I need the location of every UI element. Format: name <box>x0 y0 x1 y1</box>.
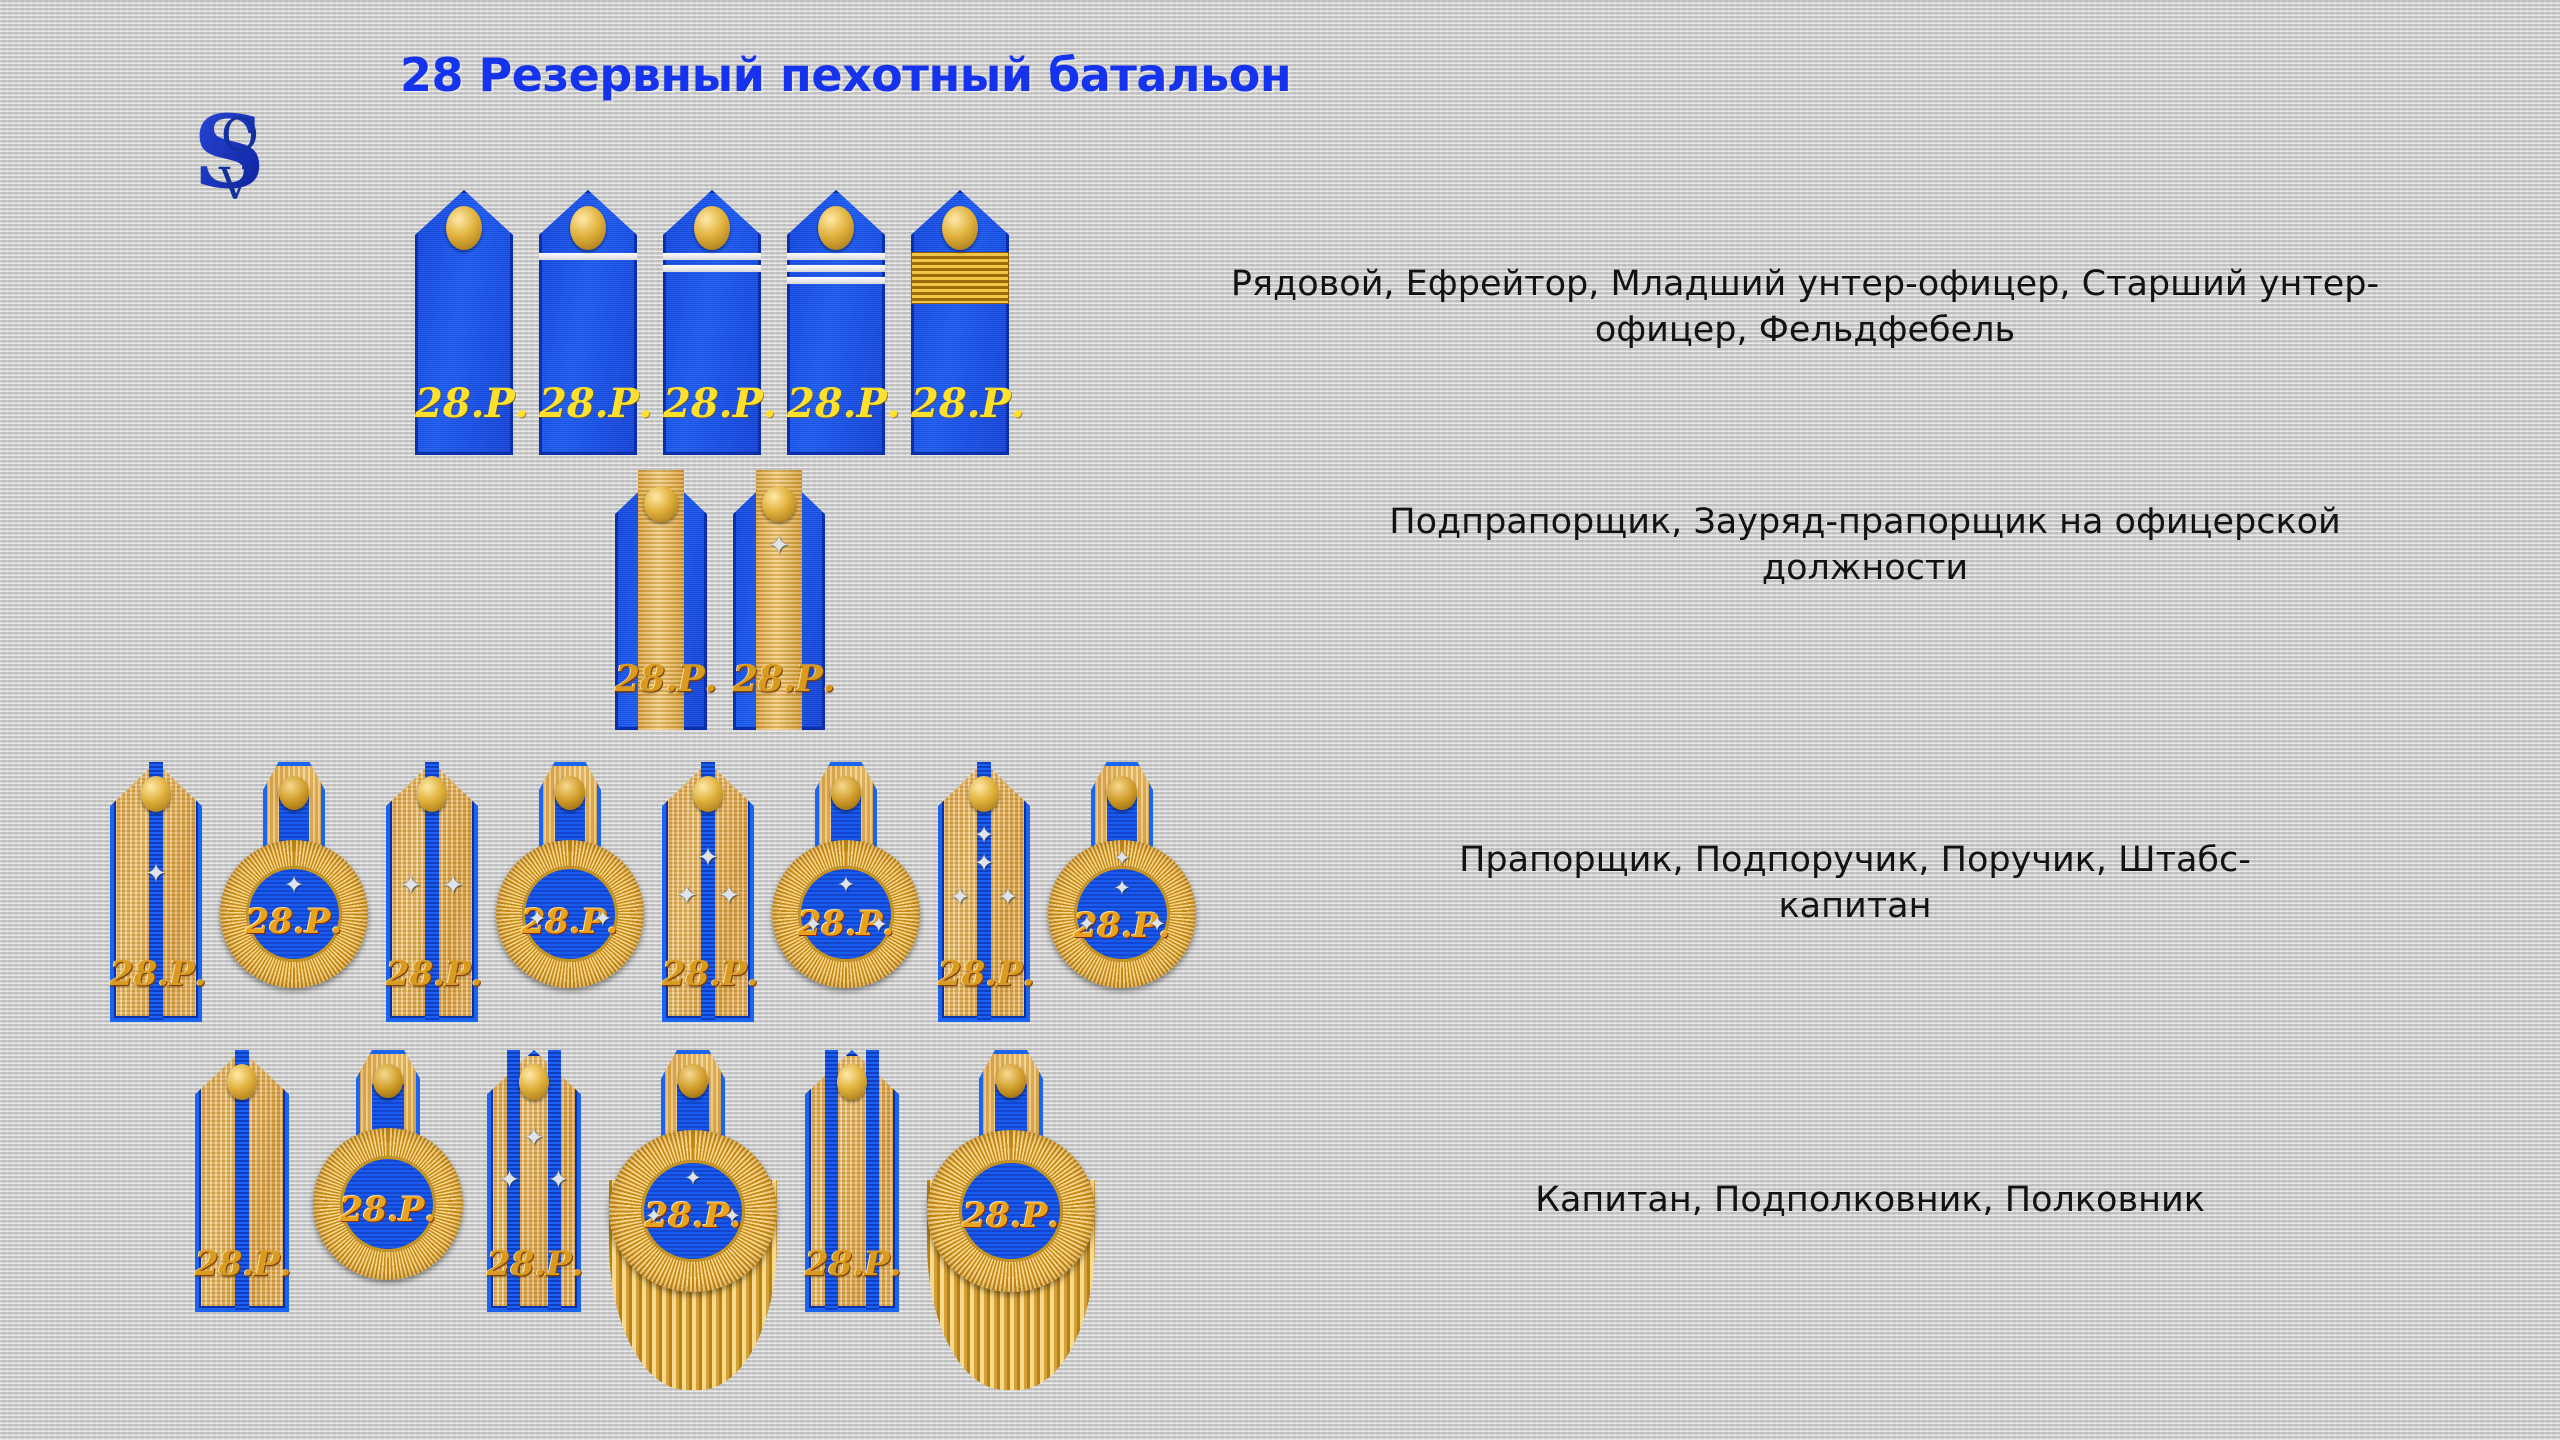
strap-button-icon <box>141 776 171 812</box>
strap-button-icon <box>519 1064 549 1100</box>
rank-star-icon: ✦ <box>837 874 855 896</box>
shoulder-strap-podpraporshchik[interactable]: 28.Р. <box>615 470 707 730</box>
strap-button-icon <box>762 486 796 522</box>
rank-star-icon: ✦ <box>768 532 790 558</box>
rank-star-icon: ✦ <box>284 874 304 898</box>
rank-star-icon: ✦ <box>974 824 994 848</box>
epaulette-polkovnik[interactable]: 28.Р. <box>923 1050 1099 1440</box>
feldfebel-gold-galloon <box>911 252 1009 304</box>
shoulder-strap-podpolkovnik[interactable]: ✦ ✦ ✦ 28.Р. <box>487 1050 581 1312</box>
caption-staff-officers: Капитан, Подполковник, Полковник <box>1470 1178 2270 1224</box>
rank-star-icon: ✦ <box>676 882 698 908</box>
shoulder-strap-poruchik[interactable]: ✦ ✦ ✦ 28.Р. <box>662 762 754 1022</box>
strap-button-icon <box>570 206 606 250</box>
epaulette-button-icon <box>678 1064 708 1098</box>
rank-star-icon: ✦ <box>684 1168 702 1189</box>
rank-star-icon: ✦ <box>145 860 167 886</box>
rank-star-icon: ✦ <box>528 908 546 930</box>
rank-star-icon: ✦ <box>998 886 1018 910</box>
epaulette-button-icon <box>279 776 309 810</box>
rank-star-icon: ✦ <box>400 872 422 898</box>
rank-star-icon: ✦ <box>645 1206 663 1227</box>
epaulette-podpolkovnik[interactable]: ✦ ✦ ✦ 28.Р. <box>605 1050 781 1440</box>
page-title: 28 Резервный пехотный батальон <box>400 48 1291 102</box>
rank-star-icon: ✦ <box>697 844 719 870</box>
row-staff-officers: 28.Р. 28.Р. ✦ ✦ ✦ 28.Р. ✦ ✦ ✦ 28.Р. <box>195 1050 1099 1440</box>
caption-ober-officers: Прапорщик, Подпоручик, Поручик, Штабс-ка… <box>1440 838 2270 929</box>
rank-star-icon: ✦ <box>1148 914 1166 935</box>
shoulder-strap-starshiy-unter-ofitser[interactable]: 28.Р. <box>787 190 885 455</box>
strap-button-icon <box>942 206 978 250</box>
shoulder-strap-efreytor[interactable]: 28.Р. <box>539 190 637 455</box>
epaulette-button-icon <box>555 776 585 810</box>
epaulette-kapitan[interactable]: 28.Р. <box>313 1050 463 1305</box>
epaulette-field <box>959 1160 1063 1262</box>
shoulder-strap-podporuchik[interactable]: ✦ ✦ 28.Р. <box>386 762 478 1022</box>
rank-star-icon: ✦ <box>950 886 970 910</box>
shoulder-strap-ryadovoy[interactable]: 28.Р. <box>415 190 513 455</box>
strap-button-icon <box>837 1064 867 1100</box>
rank-star-icon: ✦ <box>1113 878 1131 899</box>
shoulder-strap-praporshchik[interactable]: ✦ 28.Р. <box>110 762 202 1022</box>
shoulder-strap-shtabs-kapitan[interactable]: ✦ ✦ ✦ ✦ 28.Р. <box>938 762 1030 1022</box>
rank-star-icon: ✦ <box>594 908 612 930</box>
strap-button-icon <box>693 776 723 812</box>
strap-button-icon <box>417 776 447 812</box>
epaulette-field <box>340 1156 436 1252</box>
rank-star-icon: ✦ <box>1078 914 1096 935</box>
shoulder-strap-polkovnik[interactable]: 28.Р. <box>805 1050 899 1312</box>
rank-star-icon: ✦ <box>718 882 740 908</box>
strap-button-icon <box>818 206 854 250</box>
row-lower-ranks: 28.Р. 28.Р. 28.Р. 28.Р. 28.Р. <box>415 190 1009 455</box>
rank-star-icon: ✦ <box>974 852 994 876</box>
epaulette-praporshchik[interactable]: ✦ 28.Р. <box>220 762 368 1012</box>
strap-button-icon <box>644 486 678 522</box>
strap-button-icon <box>694 206 730 250</box>
svg-text:V: V <box>218 159 252 205</box>
nco-galloon-stripes <box>539 253 637 265</box>
epaulette-button-icon <box>831 776 861 810</box>
shoulder-strap-zauryad-praporshchik[interactable]: ✦ 28.Р. <box>733 470 825 730</box>
blue-stripe <box>866 1050 879 1312</box>
epaulette-button-icon <box>996 1064 1026 1098</box>
epaulette-button-icon <box>373 1064 403 1098</box>
epaulette-shtabs-kapitan[interactable]: ✦ ✦ ✦ ✦ 28.Р. <box>1048 762 1196 1012</box>
rank-star-icon: ✦ <box>499 1168 520 1193</box>
shoulder-strap-feldfebel[interactable]: 28.Р. <box>911 190 1009 455</box>
shoulder-strap-mladshiy-unter-ofitser[interactable]: 28.Р. <box>663 190 761 455</box>
caption-lower-ranks: Рядовой, Ефрейтор, Младший унтер-офицер,… <box>1170 262 2440 353</box>
rank-star-icon: ✦ <box>804 914 822 936</box>
svg-text:O: O <box>221 108 259 162</box>
strap-button-icon <box>446 206 482 250</box>
caption-ensigns: Подпрапорщик, Зауряд-прапорщик на офицер… <box>1380 500 2350 591</box>
nco-galloon-stripes <box>787 253 885 289</box>
rank-star-icon: ✦ <box>870 914 888 936</box>
strap-button-icon <box>227 1064 257 1100</box>
blue-stripe <box>825 1050 838 1312</box>
epaulette-button-icon <box>1107 776 1137 810</box>
rank-star-icon: ✦ <box>524 1126 545 1151</box>
row-ensigns: 28.Р. ✦ 28.Р. <box>615 470 825 730</box>
rank-star-icon: ✦ <box>442 872 464 898</box>
epaulette-poruchik[interactable]: ✦ ✦ ✦ 28.Р. <box>772 762 920 1012</box>
rank-star-icon: ✦ <box>1113 848 1131 869</box>
shoulder-strap-kapitan[interactable]: 28.Р. <box>195 1050 289 1312</box>
nco-galloon-stripes <box>663 253 761 277</box>
epaulette-podporuchik[interactable]: ✦ ✦ 28.Р. <box>496 762 644 1012</box>
strap-button-icon <box>969 776 999 812</box>
sov-monogram-logo: S O V <box>185 95 305 205</box>
rank-star-icon: ✦ <box>548 1168 569 1193</box>
rank-star-icon: ✦ <box>723 1206 741 1227</box>
row-ober-officers: ✦ 28.Р. ✦ 28.Р. ✦ ✦ 28.Р. ✦ ✦ 28.Р. ✦ <box>110 762 1196 1022</box>
